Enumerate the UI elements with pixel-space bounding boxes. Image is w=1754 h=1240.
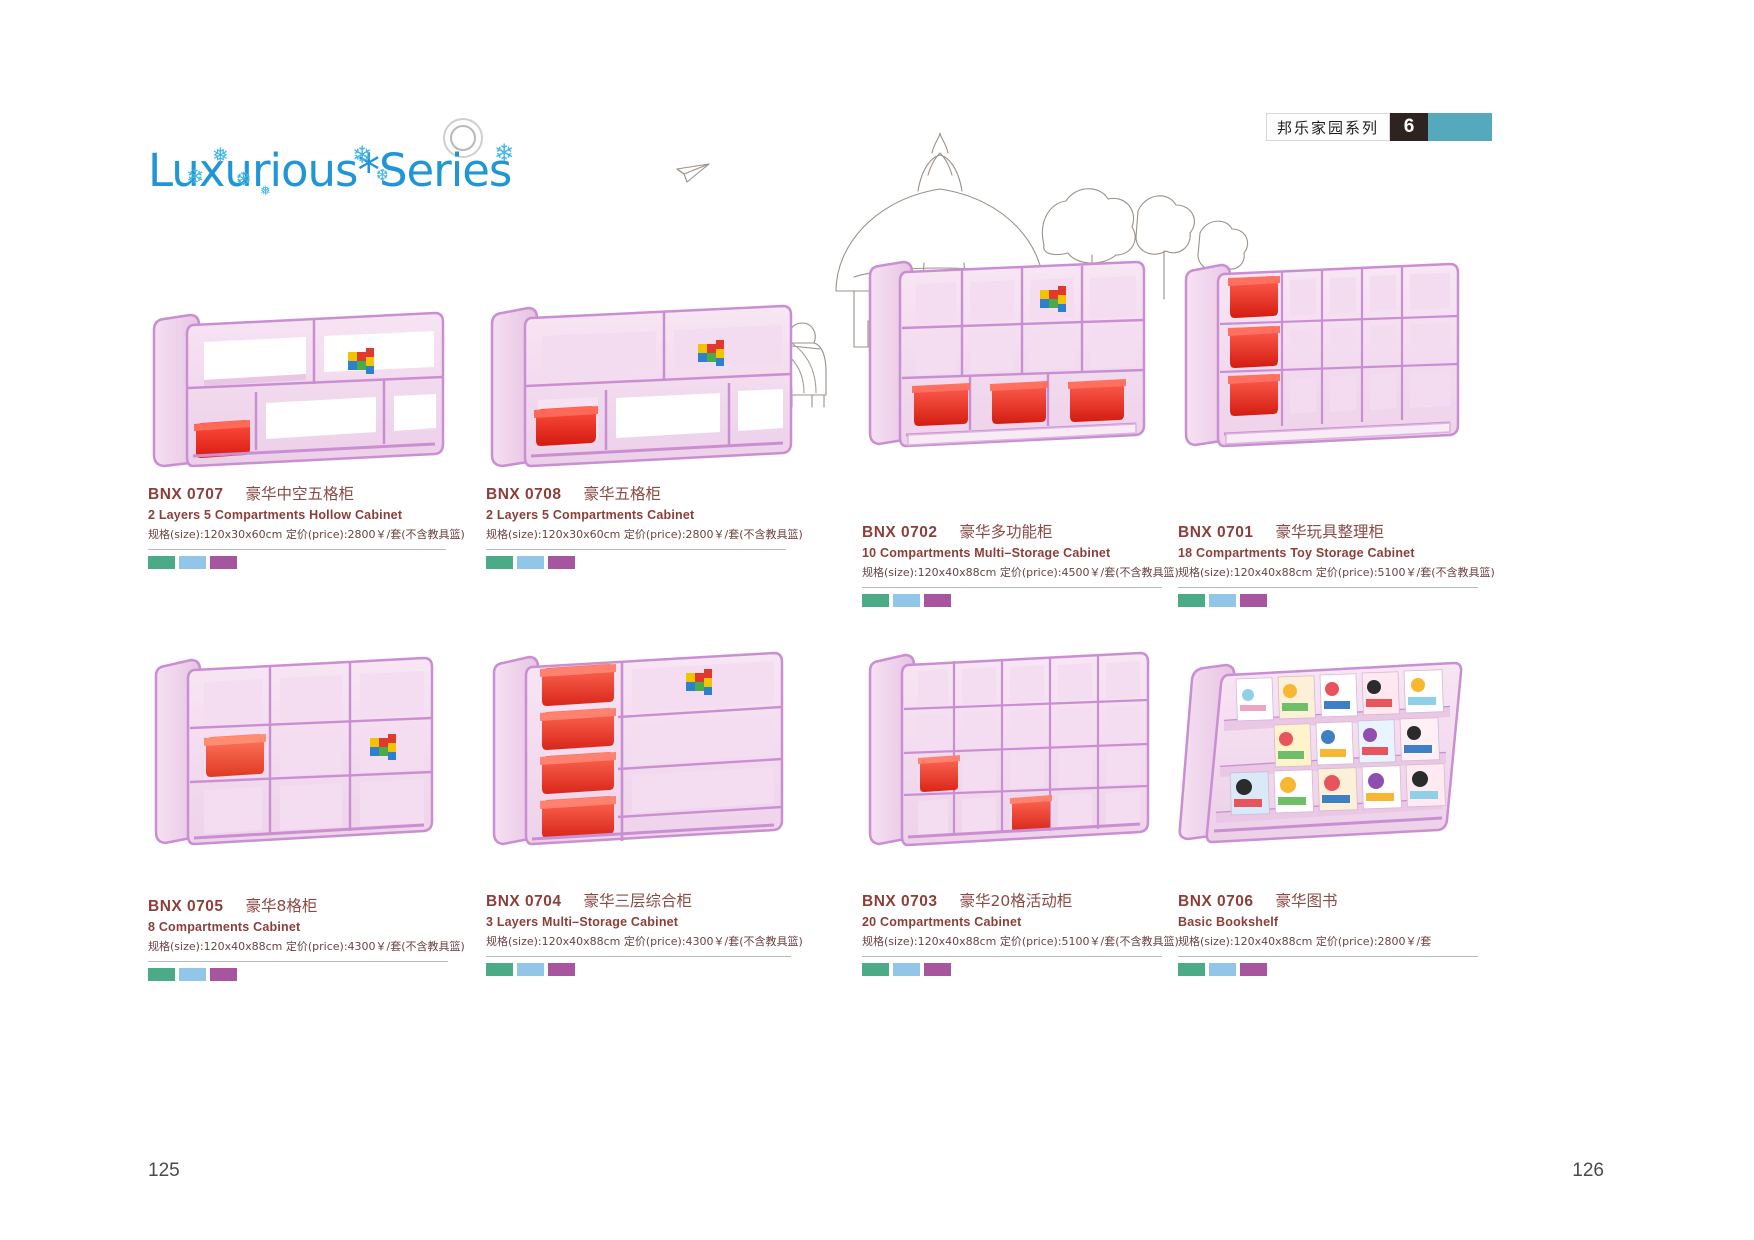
product-spec: 规格(size):120x40x88cm 定价(price):4300￥/套(不… [486, 933, 791, 949]
swatch-purple [1240, 594, 1267, 607]
swatch-blue [1209, 963, 1236, 976]
product-caption: BNX 0706 豪华图书 Basic Bookshelf 规格(size):1… [1178, 889, 1478, 976]
divider [1178, 587, 1478, 588]
divider [148, 961, 448, 962]
color-swatches [486, 556, 786, 569]
product-name-en: 18 Compartments Toy Storage Cabinet [1178, 546, 1478, 560]
page-number-left: 125 [148, 1160, 180, 1182]
color-swatches [862, 963, 1162, 976]
swatch-green [148, 556, 175, 569]
paper-plane-icon [676, 163, 710, 183]
product-name-cn: 豪华五格柜 [584, 482, 662, 504]
divider [1178, 956, 1478, 957]
swatch-green [1178, 963, 1205, 976]
product-caption: BNX 0707 豪华中空五格柜 2 Layers 5 Compartments… [148, 482, 446, 569]
color-swatches [862, 594, 1162, 607]
swatch-purple [548, 556, 575, 569]
swatch-blue [1209, 594, 1236, 607]
swatch-green [1178, 594, 1205, 607]
swatch-blue [893, 963, 920, 976]
swatch-green [862, 963, 889, 976]
swatch-green [148, 968, 175, 981]
swatch-purple [924, 963, 951, 976]
divider [862, 956, 1162, 957]
product-caption: BNX 0704 豪华三层综合柜 3 Layers Multi–Storage … [486, 889, 791, 976]
swatch-blue [517, 556, 544, 569]
swatch-purple [210, 556, 237, 569]
product-name-cn: 豪华20格活动柜 [960, 889, 1073, 911]
divider [862, 587, 1162, 588]
page-number-right: 126 [1572, 1160, 1604, 1182]
product-code: BNX 0706 [1178, 893, 1254, 911]
product-spec: 规格(size):120x30x60cm 定价(price):2800￥/套(不… [148, 526, 446, 542]
product-name-en: 2 Layers 5 Compartments Cabinet [486, 508, 786, 522]
product-spec: 规格(size):120x40x88cm 定价(price):5100￥/套(不… [862, 933, 1162, 949]
color-swatches [486, 963, 791, 976]
product-name-cn: 豪华三层综合柜 [584, 889, 693, 911]
product-name-cn: 豪华中空五格柜 [246, 482, 355, 504]
product-name-en: 8 Compartments Cabinet [148, 920, 448, 934]
swatch-green [862, 594, 889, 607]
product-name-en: Basic Bookshelf [1178, 915, 1478, 929]
swatch-blue [517, 963, 544, 976]
series-label: 邦乐家园系列 [1266, 113, 1390, 141]
color-swatches [148, 556, 446, 569]
page-title: Luxurious*Series ❄ ❅ ❆ ❄ ❆ ❄ ❅ [148, 140, 568, 202]
product-name-cn: 豪华图书 [1276, 889, 1338, 911]
swatch-purple [924, 594, 951, 607]
product-name-cn: 豪华多功能柜 [960, 520, 1053, 542]
product-code: BNX 0703 [862, 893, 938, 911]
chapter-number: 6 [1390, 113, 1428, 141]
product-code: BNX 0704 [486, 893, 562, 911]
product-caption: BNX 0708 豪华五格柜 2 Layers 5 Compartments C… [486, 482, 786, 569]
product-name-cn: 豪华8格柜 [246, 894, 318, 916]
product-spec: 规格(size):120x40x88cm 定价(price):4500￥/套(不… [862, 564, 1162, 580]
swatch-purple [1240, 963, 1267, 976]
swatch-blue [179, 968, 206, 981]
product-caption: BNX 0705 豪华8格柜 8 Compartments Cabinet 规格… [148, 894, 448, 981]
product-caption: BNX 0703 豪华20格活动柜 20 Compartments Cabine… [862, 889, 1162, 976]
divider [486, 549, 786, 550]
product-code: BNX 0707 [148, 486, 224, 504]
swatch-purple [548, 963, 575, 976]
divider [486, 956, 791, 957]
product-spec: 规格(size):120x40x88cm 定价(price):2800￥/套 [1178, 933, 1478, 949]
divider [148, 549, 446, 550]
product-caption: BNX 0701 豪华玩具整理柜 18 Compartments Toy Sto… [1178, 520, 1478, 607]
swatch-green [486, 963, 513, 976]
product-name-en: 20 Compartments Cabinet [862, 915, 1162, 929]
color-swatches [1178, 963, 1478, 976]
product-code: BNX 0701 [1178, 524, 1254, 542]
color-swatches [148, 968, 448, 981]
product-caption: BNX 0702 豪华多功能柜 10 Compartments Multi–St… [862, 520, 1162, 607]
swatch-green [486, 556, 513, 569]
product-name-en: 2 Layers 5 Compartments Hollow Cabinet [148, 508, 446, 522]
product-code: BNX 0702 [862, 524, 938, 542]
chapter-badge: 邦乐家园系列 6 [1266, 113, 1492, 141]
product-spec: 规格(size):120x40x88cm 定价(price):5100￥/套(不… [1178, 564, 1478, 580]
product-name-cn: 豪华玩具整理柜 [1276, 520, 1385, 542]
product-spec: 规格(size):120x40x88cm 定价(price):4300￥/套(不… [148, 938, 448, 954]
color-swatches [1178, 594, 1478, 607]
page-title-text: Luxurious*Series [148, 140, 568, 202]
product-name-en: 10 Compartments Multi–Storage Cabinet [862, 546, 1162, 560]
product-name-en: 3 Layers Multi–Storage Cabinet [486, 915, 791, 929]
swatch-purple [210, 968, 237, 981]
swatch-blue [893, 594, 920, 607]
swatch-blue [179, 556, 206, 569]
product-code: BNX 0705 [148, 898, 224, 916]
chapter-color-bar [1428, 113, 1492, 141]
product-code: BNX 0708 [486, 486, 562, 504]
product-spec: 规格(size):120x30x60cm 定价(price):2800￥/套(不… [486, 526, 786, 542]
catalog-page: 邦乐家园系列 6 Luxurious*Series ❄ ❅ ❆ ❄ ❆ ❄ ❅ [0, 0, 1754, 1240]
